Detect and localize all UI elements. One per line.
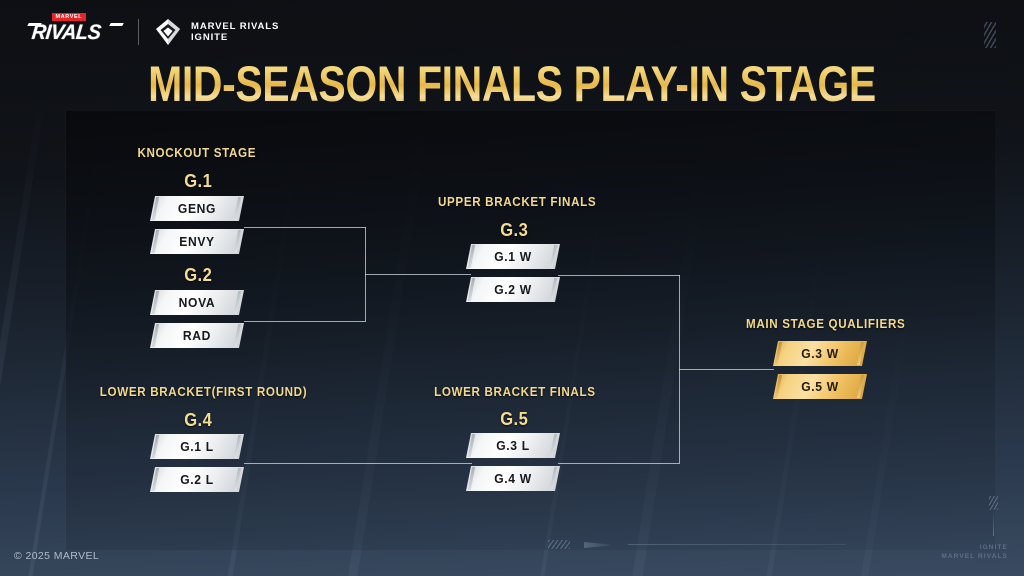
match-code-g5: G.5 [500,409,528,430]
bracket: KNOCKOUT STAGE G.1 GENG ENVY G.2 NOVA RA… [0,0,1024,576]
dart-icon [584,542,610,548]
slot-label: NOVA [153,290,240,315]
slot-rad[interactable]: RAD [150,323,244,348]
slot-label: G.5 W [776,374,863,399]
slot-label: G.2 W [469,277,556,302]
slot-label: G.1 L [153,434,240,459]
round-label-main-stage-qualifiers: MAIN STAGE QUALIFIERS [746,317,905,331]
connector-g5-out [558,463,680,464]
slot-label: GENG [153,196,240,221]
slot-g4-lower[interactable]: G.2 L [150,467,244,492]
watermark-line-1: IGNITE [941,544,1008,553]
slot-g3-upper[interactable]: G.1 W [466,244,560,269]
match-code-g4: G.4 [184,410,212,431]
round-label-upper-bracket-finals: UPPER BRACKET FINALS [438,195,596,209]
tournament-bracket-screen: MARVEL RIVALS MARVEL RIVALS IGNITE MID-S… [0,0,1024,576]
slot-nova[interactable]: NOVA [150,290,244,315]
slot-label: G.2 L [153,467,240,492]
slot-g3-lower[interactable]: G.2 W [466,277,560,302]
connector-g1-out [244,227,366,228]
connector-final-mid [679,369,774,370]
watermark: IGNITE MARVEL RIVALS [941,544,1008,562]
slot-label: G.4 W [469,466,556,491]
connector-g4-out [244,463,472,464]
connector-g2-out [244,321,366,322]
watermark-tick [993,510,994,536]
slot-label: G.3 W [776,341,863,366]
slot-label: G.3 L [469,433,556,458]
bottom-rule [628,544,846,545]
slot-g5-lower[interactable]: G.4 W [466,466,560,491]
slot-label: G.1 W [469,244,556,269]
match-code-g3: G.3 [500,220,528,241]
hatch-icon [548,540,570,549]
watermark-hatch-icon [989,496,998,510]
bottom-decoration [548,538,848,552]
slot-qualifier-2[interactable]: G.5 W [773,374,867,399]
slot-envy[interactable]: ENVY [150,229,244,254]
slot-g5-upper[interactable]: G.3 L [466,433,560,458]
round-label-lower-bracket-finals: LOWER BRACKET FINALS [434,385,596,399]
connector-g3-out [558,275,680,276]
copyright: © 2025 MARVEL [14,550,99,562]
connector-upper-mid [365,274,471,275]
match-code-g2: G.2 [184,265,212,286]
match-code-g1: G.1 [184,171,212,192]
slot-label: RAD [153,323,240,348]
round-label-lower-bracket-first-round: LOWER BRACKET(FIRST ROUND) [100,385,307,399]
slot-label: ENVY [153,229,240,254]
slot-geng[interactable]: GENG [150,196,244,221]
slot-g4-upper[interactable]: G.1 L [150,434,244,459]
watermark-line-2: MARVEL RIVALS [941,553,1008,562]
slot-qualifier-1[interactable]: G.3 W [773,341,867,366]
round-label-knockout-stage: KNOCKOUT STAGE [137,146,256,160]
